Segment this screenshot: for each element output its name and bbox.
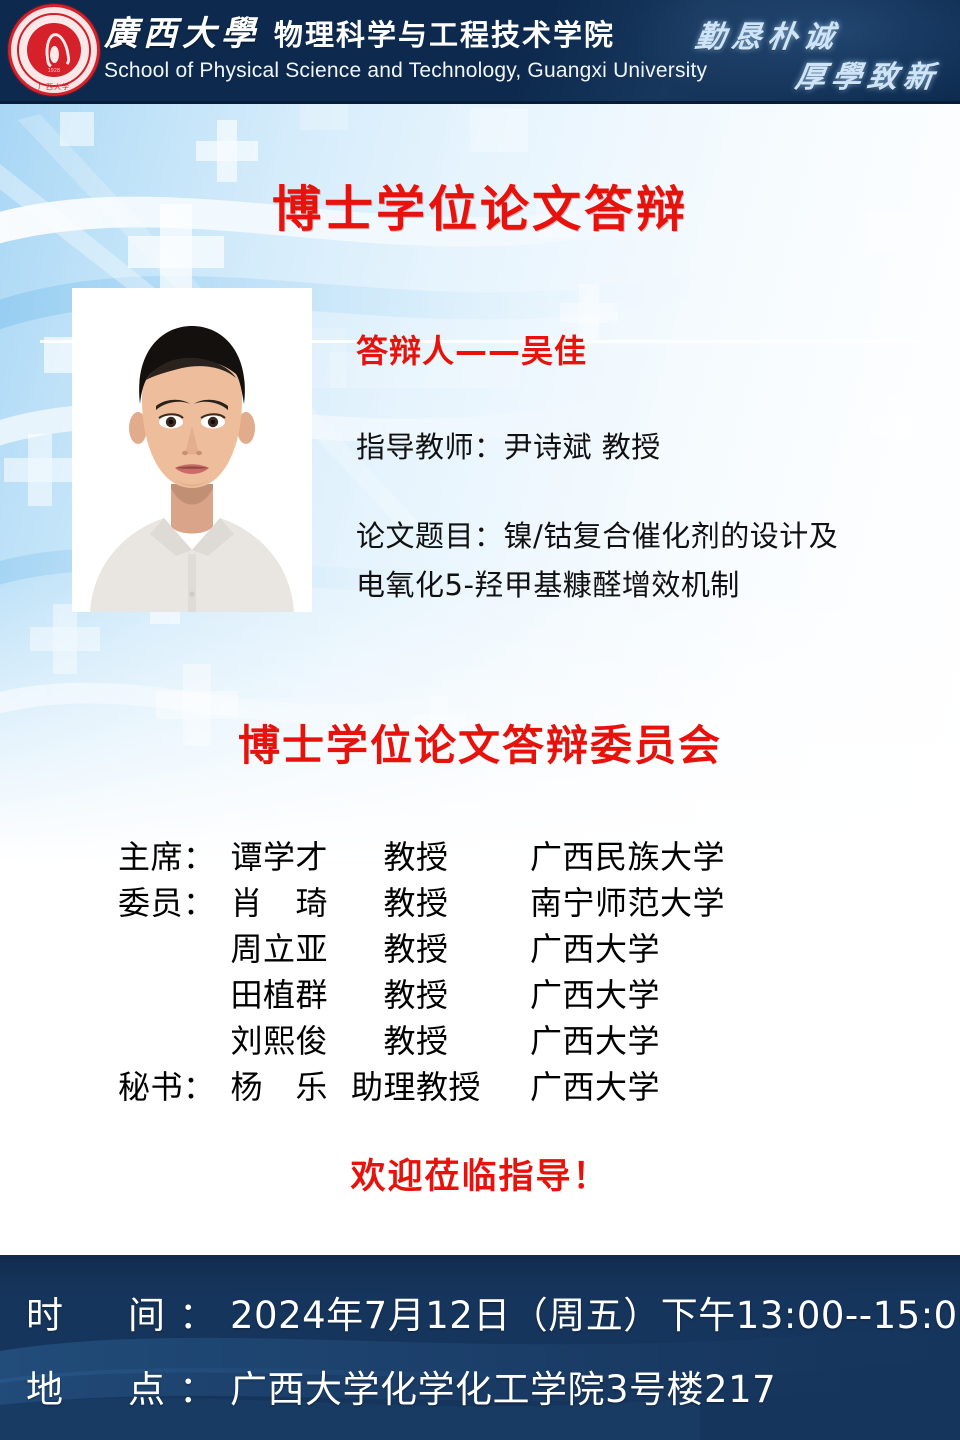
committee-title: 教授 — [328, 924, 504, 970]
motto-line-1: 勤恳朴诚 — [693, 12, 843, 56]
committee-row: 刘熙俊 教授 广西大学 — [0, 1016, 960, 1062]
committee-title: 教授 — [328, 970, 504, 1016]
committee-name: 肖 琦 — [168, 878, 328, 924]
committee-row: 周立亚 教授 广西大学 — [0, 924, 960, 970]
university-motto: 勤恳朴诚 厚學致新 — [682, 6, 942, 98]
committee-row: 主席： 谭学才 教授 广西民族大学 — [0, 832, 960, 878]
footer-time-line: 时 间：2024年7月12日（周五）下午13:00--15:00 — [26, 1285, 960, 1339]
seal-year-text: 1928 — [48, 68, 60, 74]
committee-role: 秘书： — [0, 1062, 168, 1108]
presenter-name: 答辩人——吴佳 — [356, 326, 926, 372]
committee-section-title: 博士学位论文答辩委员会 — [0, 712, 960, 773]
thesis-title: 论文题目：镍/钴复合催化剂的设计及 电氧化5-羟甲基糠醛增效机制 — [356, 512, 926, 609]
committee-name: 谭学才 — [168, 832, 328, 878]
committee-name: 刘熙俊 — [168, 1016, 328, 1062]
thesis-title-line-2: 电氧化5-羟甲基糠醛增效机制 — [356, 561, 926, 610]
motto-line-2: 厚學致新 — [793, 52, 943, 96]
committee-org: 南宁师范大学 — [504, 878, 804, 924]
committee-role: 主席： — [0, 832, 168, 878]
committee-title: 教授 — [328, 832, 504, 878]
page-title: 博士学位论文答辩 — [0, 170, 960, 241]
welcome-message: 欢迎莅临指导！ — [0, 1148, 960, 1199]
committee-title: 助理教授 — [328, 1062, 504, 1108]
committee-row: 委员： 肖 琦 教授 南宁师范大学 — [0, 878, 960, 924]
thesis-title-line-1: 论文题目：镍/钴复合催化剂的设计及 — [356, 512, 926, 561]
committee-org: 广西大学 — [504, 1062, 804, 1108]
presenter-photo — [72, 288, 312, 612]
header-university-name-cn: 廣西大學 — [104, 6, 260, 55]
footer-place-label: 地 点： — [26, 1368, 230, 1411]
committee-row: 田植群 教授 广西大学 — [0, 970, 960, 1016]
committee-title: 教授 — [328, 878, 504, 924]
presenter-portrait-illustration — [72, 288, 312, 612]
defense-announcement-poster: 1928 广西大学 廣西大學 物理科学与工程技术学院 School of Phy… — [0, 0, 960, 1440]
committee-name: 杨 乐 — [168, 1062, 328, 1108]
page-footer: 时 间：2024年7月12日（周五）下午13:00--15:00 地 点：广西大… — [0, 1255, 960, 1440]
header-school-name-en: School of Physical Science and Technolog… — [104, 59, 704, 83]
committee-role: 委员： — [0, 878, 168, 924]
committee-org: 广西大学 — [504, 970, 804, 1016]
footer-place-line: 地 点：广西大学化学化工学院3号楼217 — [26, 1359, 776, 1413]
footer-time-label: 时 间： — [26, 1294, 230, 1337]
committee-name: 田植群 — [168, 970, 328, 1016]
committee-row: 秘书： 杨 乐 助理教授 广西大学 — [0, 1062, 960, 1108]
university-seal-icon: 1928 广西大学 — [8, 4, 100, 96]
header-school-name-cn: 物理科学与工程技术学院 — [274, 12, 615, 54]
committee-list: 主席： 谭学才 教授 广西民族大学 委员： 肖 琦 教授 南宁师范大学 周立亚 … — [0, 832, 960, 1108]
advisor-line: 指导教师：尹诗斌 教授 — [356, 424, 926, 466]
header-chinese-line: 廣西大學 物理科学与工程技术学院 — [104, 6, 704, 55]
committee-title: 教授 — [328, 1016, 504, 1062]
committee-org: 广西民族大学 — [504, 832, 804, 878]
seal-university-name: 广西大学 — [38, 82, 70, 92]
committee-org: 广西大学 — [504, 924, 804, 970]
seal-flame-emblem — [41, 33, 67, 71]
footer-place-value: 广西大学化学化工学院3号楼217 — [230, 1368, 776, 1411]
presenter-info: 答辩人——吴佳 指导教师：尹诗斌 教授 论文题目：镍/钴复合催化剂的设计及 电氧… — [356, 326, 926, 609]
committee-org: 广西大学 — [504, 1016, 804, 1062]
header-title-group: 廣西大學 物理科学与工程技术学院 School of Physical Scie… — [104, 6, 704, 83]
committee-name: 周立亚 — [168, 924, 328, 970]
footer-time-value: 2024年7月12日（周五）下午13:00--15:00 — [230, 1294, 960, 1337]
page-header: 1928 广西大学 廣西大學 物理科学与工程技术学院 School of Phy… — [0, 0, 960, 104]
